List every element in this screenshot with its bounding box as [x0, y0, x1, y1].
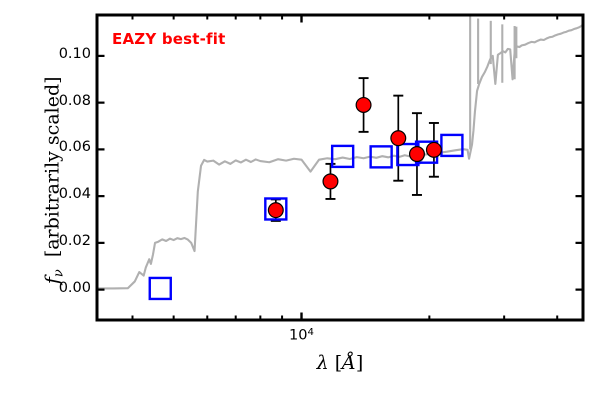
y-tick-label: 0.10 — [33, 46, 91, 62]
y-tick-label: 0.08 — [33, 93, 91, 109]
y-tick-label: 0.04 — [33, 186, 91, 202]
x-axis-label: λ [Å] — [97, 352, 583, 374]
figure-canvas: fν [arbitrarily scaled] λ [Å] EAZY best-… — [0, 0, 600, 400]
x-tick-label: 104 — [262, 327, 342, 344]
y-tick-label: 0.00 — [33, 280, 91, 296]
model-photometry-marker — [150, 278, 171, 299]
data-layer — [97, 14, 583, 299]
y-tick-label: 0.02 — [33, 233, 91, 249]
spectrum-line — [97, 24, 583, 288]
legend-eazy-best-fit: EAZY best-fit — [112, 30, 226, 48]
observed-photometry-marker — [427, 142, 442, 157]
y-tick-label: 0.06 — [33, 139, 91, 155]
observed-photometry-marker — [356, 98, 371, 113]
observed-photometry-marker — [410, 147, 425, 162]
observed-photometry-marker — [268, 203, 283, 218]
observed-photometry-marker — [391, 131, 406, 146]
observed-photometry-marker — [323, 174, 338, 189]
